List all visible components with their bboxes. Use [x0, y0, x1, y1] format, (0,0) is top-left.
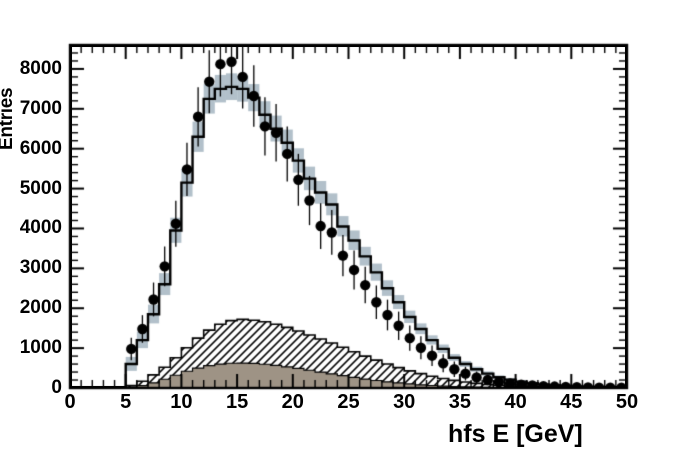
x-tick-label: 0: [50, 392, 90, 412]
y-tick-label: 3000: [0, 258, 62, 277]
x-tick-label: 5: [106, 392, 146, 412]
y-tick-label: 7000: [0, 99, 62, 118]
x-tick-label: 15: [217, 392, 257, 412]
y-tick-label: 4000: [0, 218, 62, 237]
x-tick-label: 25: [329, 392, 369, 412]
x-tick-label: 50: [607, 392, 647, 412]
x-tick-label: 45: [551, 392, 591, 412]
y-tick-label: 1000: [0, 338, 62, 357]
x-tick-label: 40: [496, 392, 536, 412]
figure-root: Entries hfs E [GeV] 01000200030004000500…: [0, 0, 696, 472]
y-tick-label: 5000: [0, 179, 62, 198]
plot-frame: [70, 45, 627, 388]
y-tick-label: 2000: [0, 298, 62, 317]
x-tick-label: 35: [440, 392, 480, 412]
y-tick-label: 8000: [0, 59, 62, 78]
x-tick-label: 20: [273, 392, 313, 412]
x-tick-label: 10: [161, 392, 201, 412]
y-tick-label: 6000: [0, 139, 62, 158]
x-tick-label: 30: [384, 392, 424, 412]
x-axis-title: hfs E [GeV]: [448, 420, 583, 449]
